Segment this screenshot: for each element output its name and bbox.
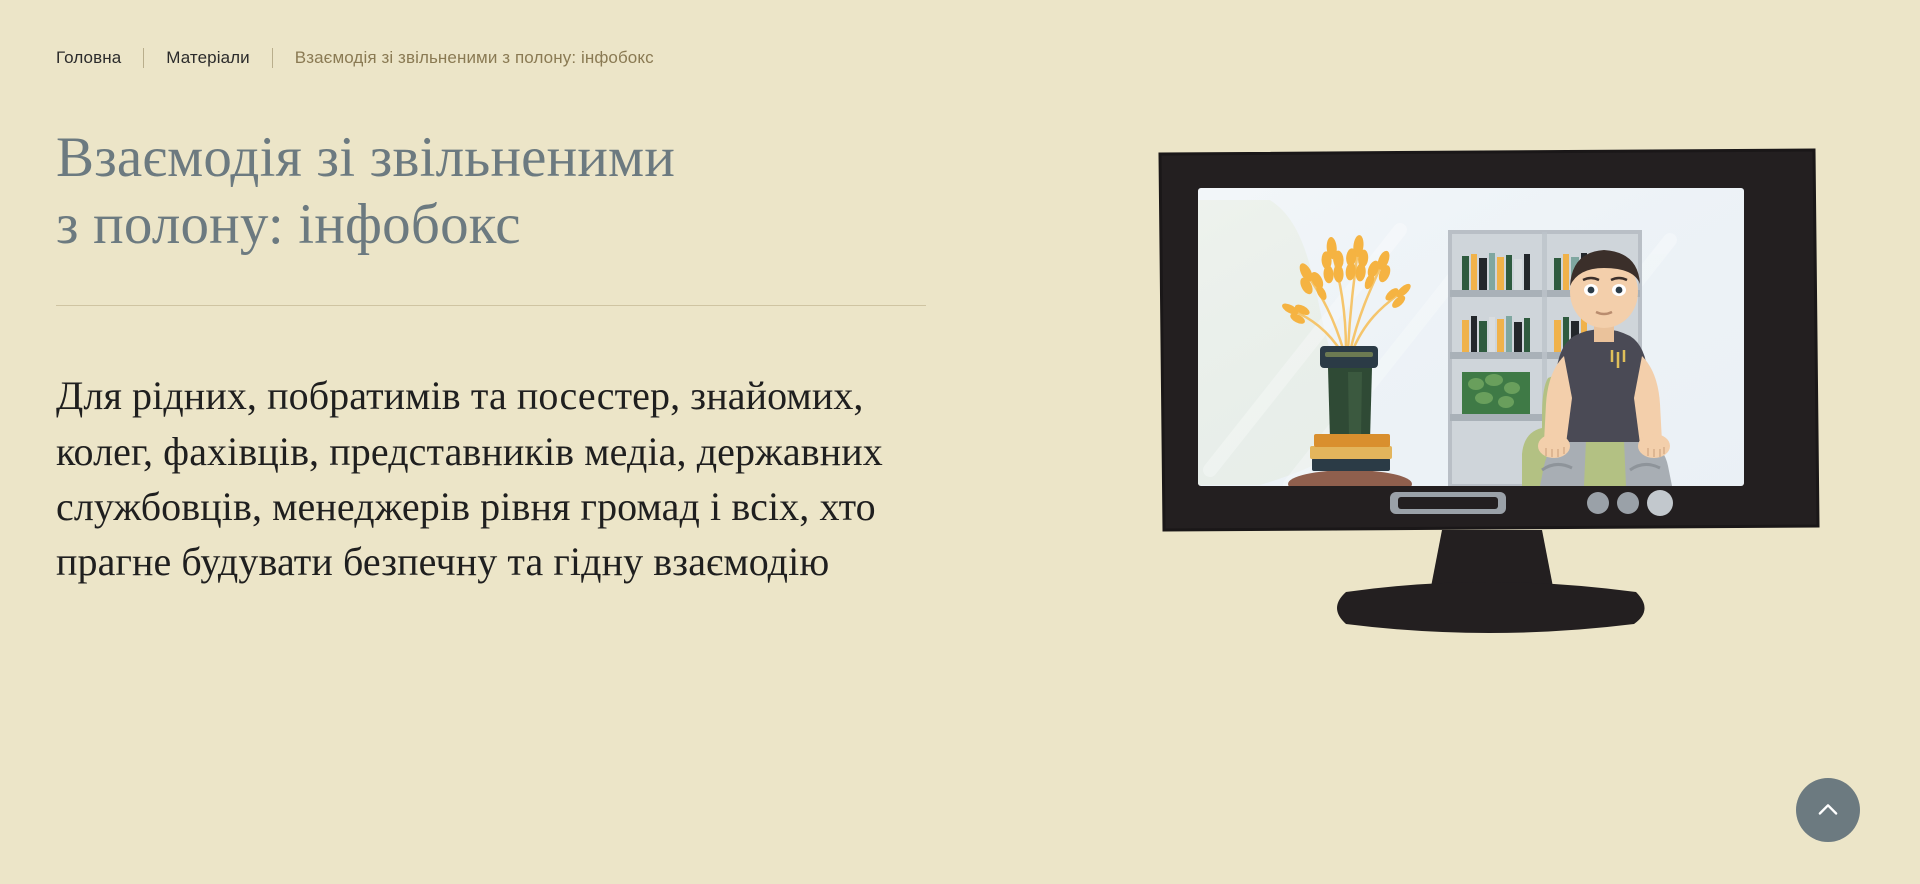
breadcrumb-item-materials[interactable]: Матеріали [166, 48, 250, 68]
shelf-plant [1462, 372, 1530, 414]
breadcrumb: Головна Матеріали Взаємодія зі звільнени… [56, 46, 654, 70]
page-title: Взаємодія зі звільненими з полону: інфоб… [56, 125, 776, 258]
monitor-screen [1198, 188, 1744, 498]
page-title-line-2: з полону: інфобокс [56, 193, 521, 256]
lead-paragraph: Для рідних, побратимів та посестер, знай… [56, 368, 936, 589]
page-title-line-1: Взаємодія зі звільненими [56, 126, 675, 189]
page-content: Взаємодія зі звільненими з полону: інфоб… [56, 125, 936, 589]
title-divider [56, 305, 926, 306]
person-watching-tv-illustration [1150, 140, 1830, 660]
chevron-up-icon [1814, 796, 1842, 824]
breadcrumb-item-home[interactable]: Головна [56, 48, 121, 68]
scroll-to-top-button[interactable] [1796, 778, 1860, 842]
breadcrumb-separator [143, 48, 144, 68]
breadcrumb-item-current: Взаємодія зі звільненими з полону: інфоб… [295, 48, 654, 68]
breadcrumb-separator [272, 48, 273, 68]
monitor-stand [1337, 530, 1645, 633]
